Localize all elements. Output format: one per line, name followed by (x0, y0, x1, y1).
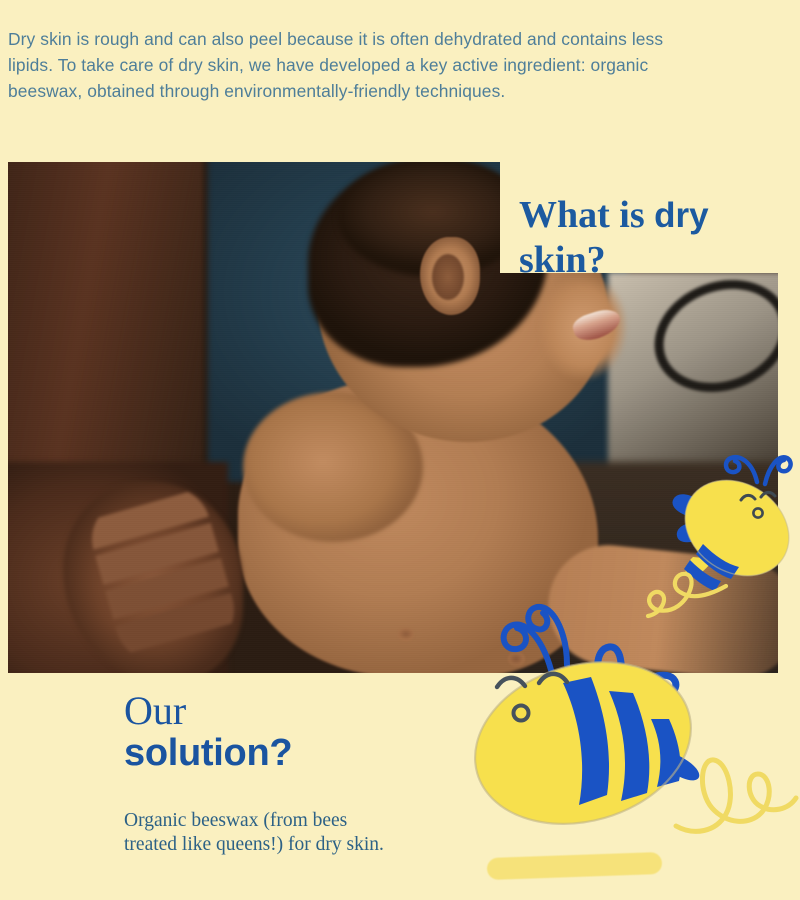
page-title-dry-skin: What is dry skin? (519, 193, 797, 282)
title-part-2: skin? (519, 239, 606, 281)
page-title-our-solution: Our solution? (124, 690, 424, 774)
bee-small-antennae (726, 457, 791, 484)
page-root: Dry skin is rough and can also peel beca… (0, 0, 800, 900)
photo-detail-1 (398, 628, 414, 641)
bee-large-antennae (504, 607, 567, 670)
intro-paragraph: Dry skin is rough and can also peel beca… (8, 27, 708, 104)
title-bold-dry: dry (654, 196, 708, 235)
solution-body-text: Organic beeswax (from bees treated like … (124, 809, 389, 857)
solution-title-line2: solution? (124, 732, 424, 774)
squiggle-large-icon (672, 740, 800, 840)
solution-title-line1: Our (124, 690, 424, 732)
title-part-1: What is (519, 194, 654, 236)
photo-baby-ear-inner (432, 254, 464, 300)
brush-dash-decoration (487, 852, 663, 880)
